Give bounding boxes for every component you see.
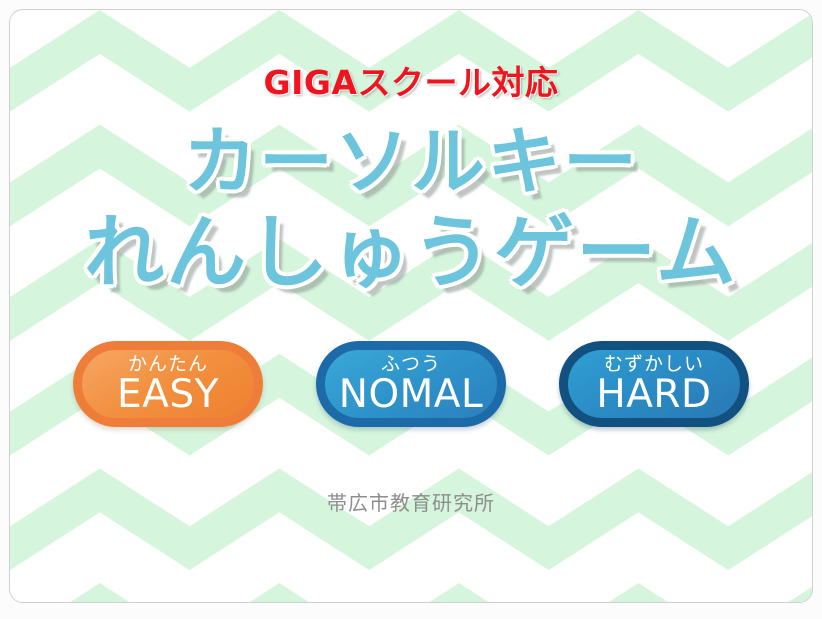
difficulty-button-nomal[interactable]: ふつう NOMAL	[316, 341, 506, 427]
difficulty-button-row: かんたん EASY ふつう NOMAL むずかしい HARD	[73, 341, 749, 427]
difficulty-label-nomal: NOMAL	[339, 375, 483, 414]
difficulty-button-easy[interactable]: かんたん EASY	[73, 341, 263, 427]
content-card: GIGAスクール対応 カーソルキー れんしゅうゲーム かんたん EASY ふつう…	[9, 9, 813, 603]
difficulty-ruby-easy: かんたん	[128, 355, 208, 374]
giga-school-badge: GIGAスクール対応	[264, 66, 559, 99]
footer-credit: 帯広市教育研究所	[327, 487, 495, 516]
content-stack: GIGAスクール対応 カーソルキー れんしゅうゲーム かんたん EASY ふつう…	[10, 10, 812, 602]
difficulty-label-hard: HARD	[596, 375, 711, 414]
game-start-screen: GIGAスクール対応 カーソルキー れんしゅうゲーム かんたん EASY ふつう…	[0, 0, 822, 619]
difficulty-button-hard[interactable]: むずかしい HARD	[559, 341, 749, 427]
page-title: カーソルキー れんしゅうゲーム	[84, 125, 738, 293]
difficulty-label-easy: EASY	[117, 375, 219, 414]
difficulty-ruby-nomal: ふつう	[381, 355, 441, 374]
page-title-line-2: れんしゅうゲーム	[84, 213, 738, 293]
difficulty-ruby-hard: むずかしい	[604, 355, 704, 374]
page-title-line-1: カーソルキー	[84, 125, 738, 199]
